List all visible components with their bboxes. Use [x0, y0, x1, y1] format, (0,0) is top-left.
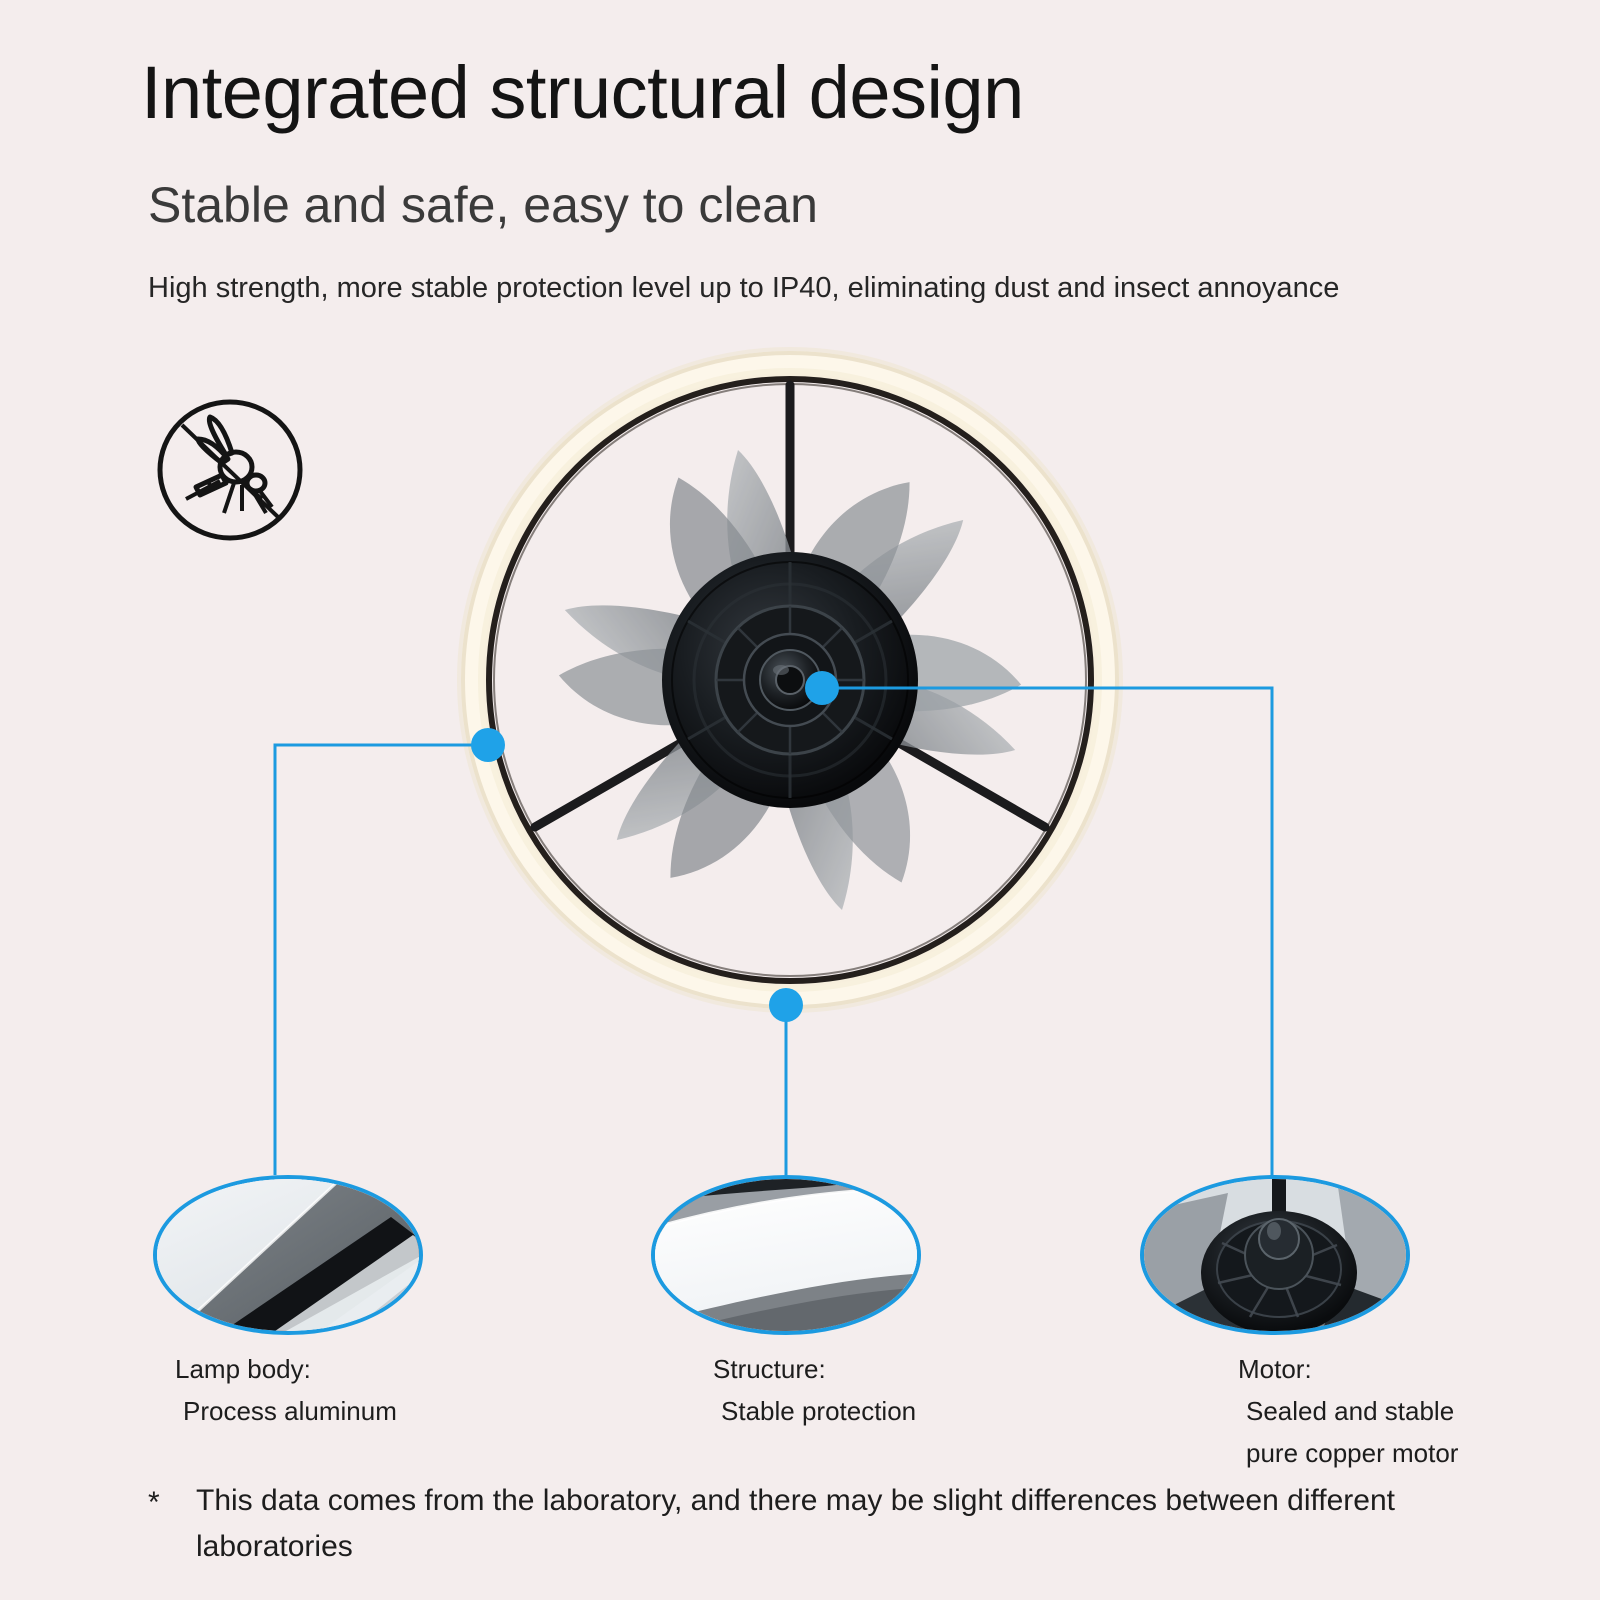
motor-thumbnail[interactable] — [1140, 1175, 1410, 1335]
footnote-text: This data comes from the laboratory, and… — [148, 1478, 1468, 1569]
ceiling-fan-with-led-ring — [440, 330, 1140, 1030]
caption-structure: Structure: Stable protection — [713, 1348, 916, 1432]
structure-diffuser-edge-photo — [651, 1175, 921, 1335]
caption-lamp-body-title: Lamp body: — [175, 1354, 311, 1384]
page-description: High strength, more stable protection le… — [148, 268, 1438, 309]
infographic-page: Integrated structural design Stable and … — [0, 0, 1600, 1600]
caption-lamp-body-detail: Process aluminum — [175, 1390, 397, 1432]
motor-hub-closeup-photo — [1140, 1175, 1410, 1335]
caption-motor-detail: Sealed and stable — [1238, 1390, 1458, 1432]
caption-motor-detail2: pure copper motor — [1238, 1432, 1458, 1474]
lamp-body-aluminum-edge-photo — [153, 1175, 423, 1335]
page-title: Integrated structural design — [141, 50, 1024, 135]
caption-motor: Motor: Sealed and stable pure copper mot… — [1238, 1348, 1458, 1474]
caption-structure-detail: Stable protection — [713, 1390, 916, 1432]
no-mosquito-icon — [150, 395, 310, 545]
caption-motor-title: Motor: — [1238, 1354, 1312, 1384]
structure-thumbnail[interactable] — [651, 1175, 921, 1335]
footnote: * This data comes from the laboratory, a… — [148, 1478, 1468, 1569]
caption-lamp-body: Lamp body: Process aluminum — [175, 1348, 397, 1432]
footnote-marker: * — [148, 1480, 160, 1526]
lamp-body-thumbnail[interactable] — [153, 1175, 423, 1335]
page-subtitle: Stable and safe, easy to clean — [148, 176, 818, 234]
caption-structure-title: Structure: — [713, 1354, 826, 1384]
